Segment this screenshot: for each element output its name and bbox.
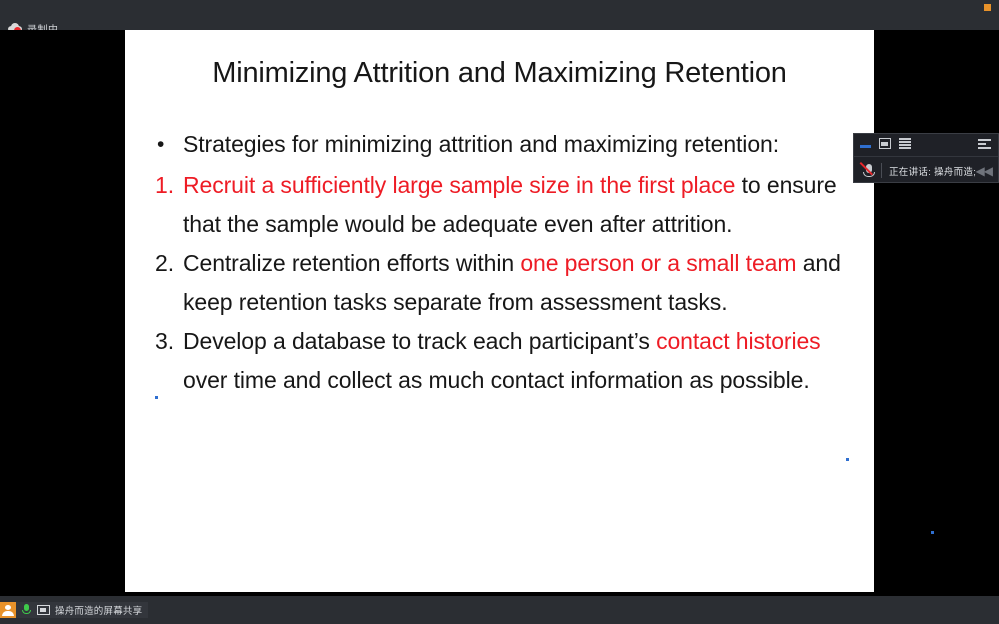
- divider: [881, 163, 882, 178]
- highlighted-phrase: one person or a small team: [520, 250, 796, 276]
- item-tail-text: over time and collect as much contact in…: [183, 367, 810, 393]
- zoom-panel-toolbar: [854, 134, 998, 157]
- highlighted-phrase: contact histories: [656, 328, 821, 354]
- active-speaker-label: 正在讲话: 操舟而造;: [889, 164, 976, 178]
- list-number-marker: 2.: [147, 244, 183, 283]
- screen-share-icon[interactable]: [37, 605, 50, 615]
- top-chrome-bar: 录制中: [0, 0, 999, 30]
- expand-panel-icon[interactable]: [978, 139, 991, 150]
- item-lead-text: Develop a database to track each partici…: [183, 328, 656, 354]
- audio-wave-icon: ◀◀: [976, 164, 992, 178]
- restore-window-icon[interactable]: [879, 138, 891, 149]
- taskbar-item-label: 操舟而造的屏幕共享: [55, 603, 142, 617]
- render-artifact-dot: [846, 458, 849, 461]
- list-number-marker: 1.: [147, 166, 183, 205]
- microphone-icon[interactable]: [21, 603, 32, 617]
- list-number-marker: 3.: [147, 322, 183, 361]
- zoom-floating-control-panel[interactable]: 正在讲话: 操舟而造; ◀◀: [853, 133, 999, 183]
- highlighted-phrase: Recruit a sufficiently large sample size…: [183, 172, 735, 198]
- numbered-list-item: 2. Centralize retention efforts within o…: [147, 244, 862, 322]
- microphone-muted-icon[interactable]: [859, 161, 879, 181]
- zoom-speaking-bar: 正在讲话: 操舟而造; ◀◀: [854, 157, 998, 184]
- numbered-list-item: 3. Develop a database to track each part…: [147, 322, 862, 400]
- zoom-window-controls: [860, 138, 911, 149]
- item-lead-text: Centralize retention efforts within: [183, 250, 520, 276]
- powerpoint-slide: Minimizing Attrition and Maximizing Rete…: [125, 30, 874, 592]
- minimize-icon[interactable]: [860, 145, 871, 148]
- slide-body: • Strategies for minimizing attrition an…: [147, 125, 862, 400]
- bullet-text: Strategies for minimizing attrition and …: [183, 125, 862, 164]
- render-artifact-dot: [155, 396, 158, 399]
- zoom-app-icon: [0, 602, 16, 618]
- numbered-item-text: Centralize retention efforts within one …: [183, 244, 862, 322]
- taskbar: 操舟而造的屏幕共享: [0, 596, 999, 624]
- bullet-list-item: • Strategies for minimizing attrition an…: [147, 125, 862, 164]
- bullet-marker: •: [147, 125, 183, 164]
- taskbar-item-screen-share[interactable]: 操舟而造的屏幕共享: [0, 602, 148, 618]
- numbered-list-item: 1. Recruit a sufficiently large sample s…: [147, 166, 862, 244]
- status-dot-indicator: [984, 4, 991, 11]
- numbered-item-text: Recruit a sufficiently large sample size…: [183, 166, 862, 244]
- slide-title: Minimizing Attrition and Maximizing Rete…: [125, 57, 874, 90]
- screen-share-view: 录制中 Minimizing Attrition and Maximizing …: [0, 0, 999, 624]
- participants-list-icon[interactable]: [899, 138, 911, 149]
- render-artifact-dot: [931, 531, 934, 534]
- numbered-item-text: Develop a database to track each partici…: [183, 322, 862, 400]
